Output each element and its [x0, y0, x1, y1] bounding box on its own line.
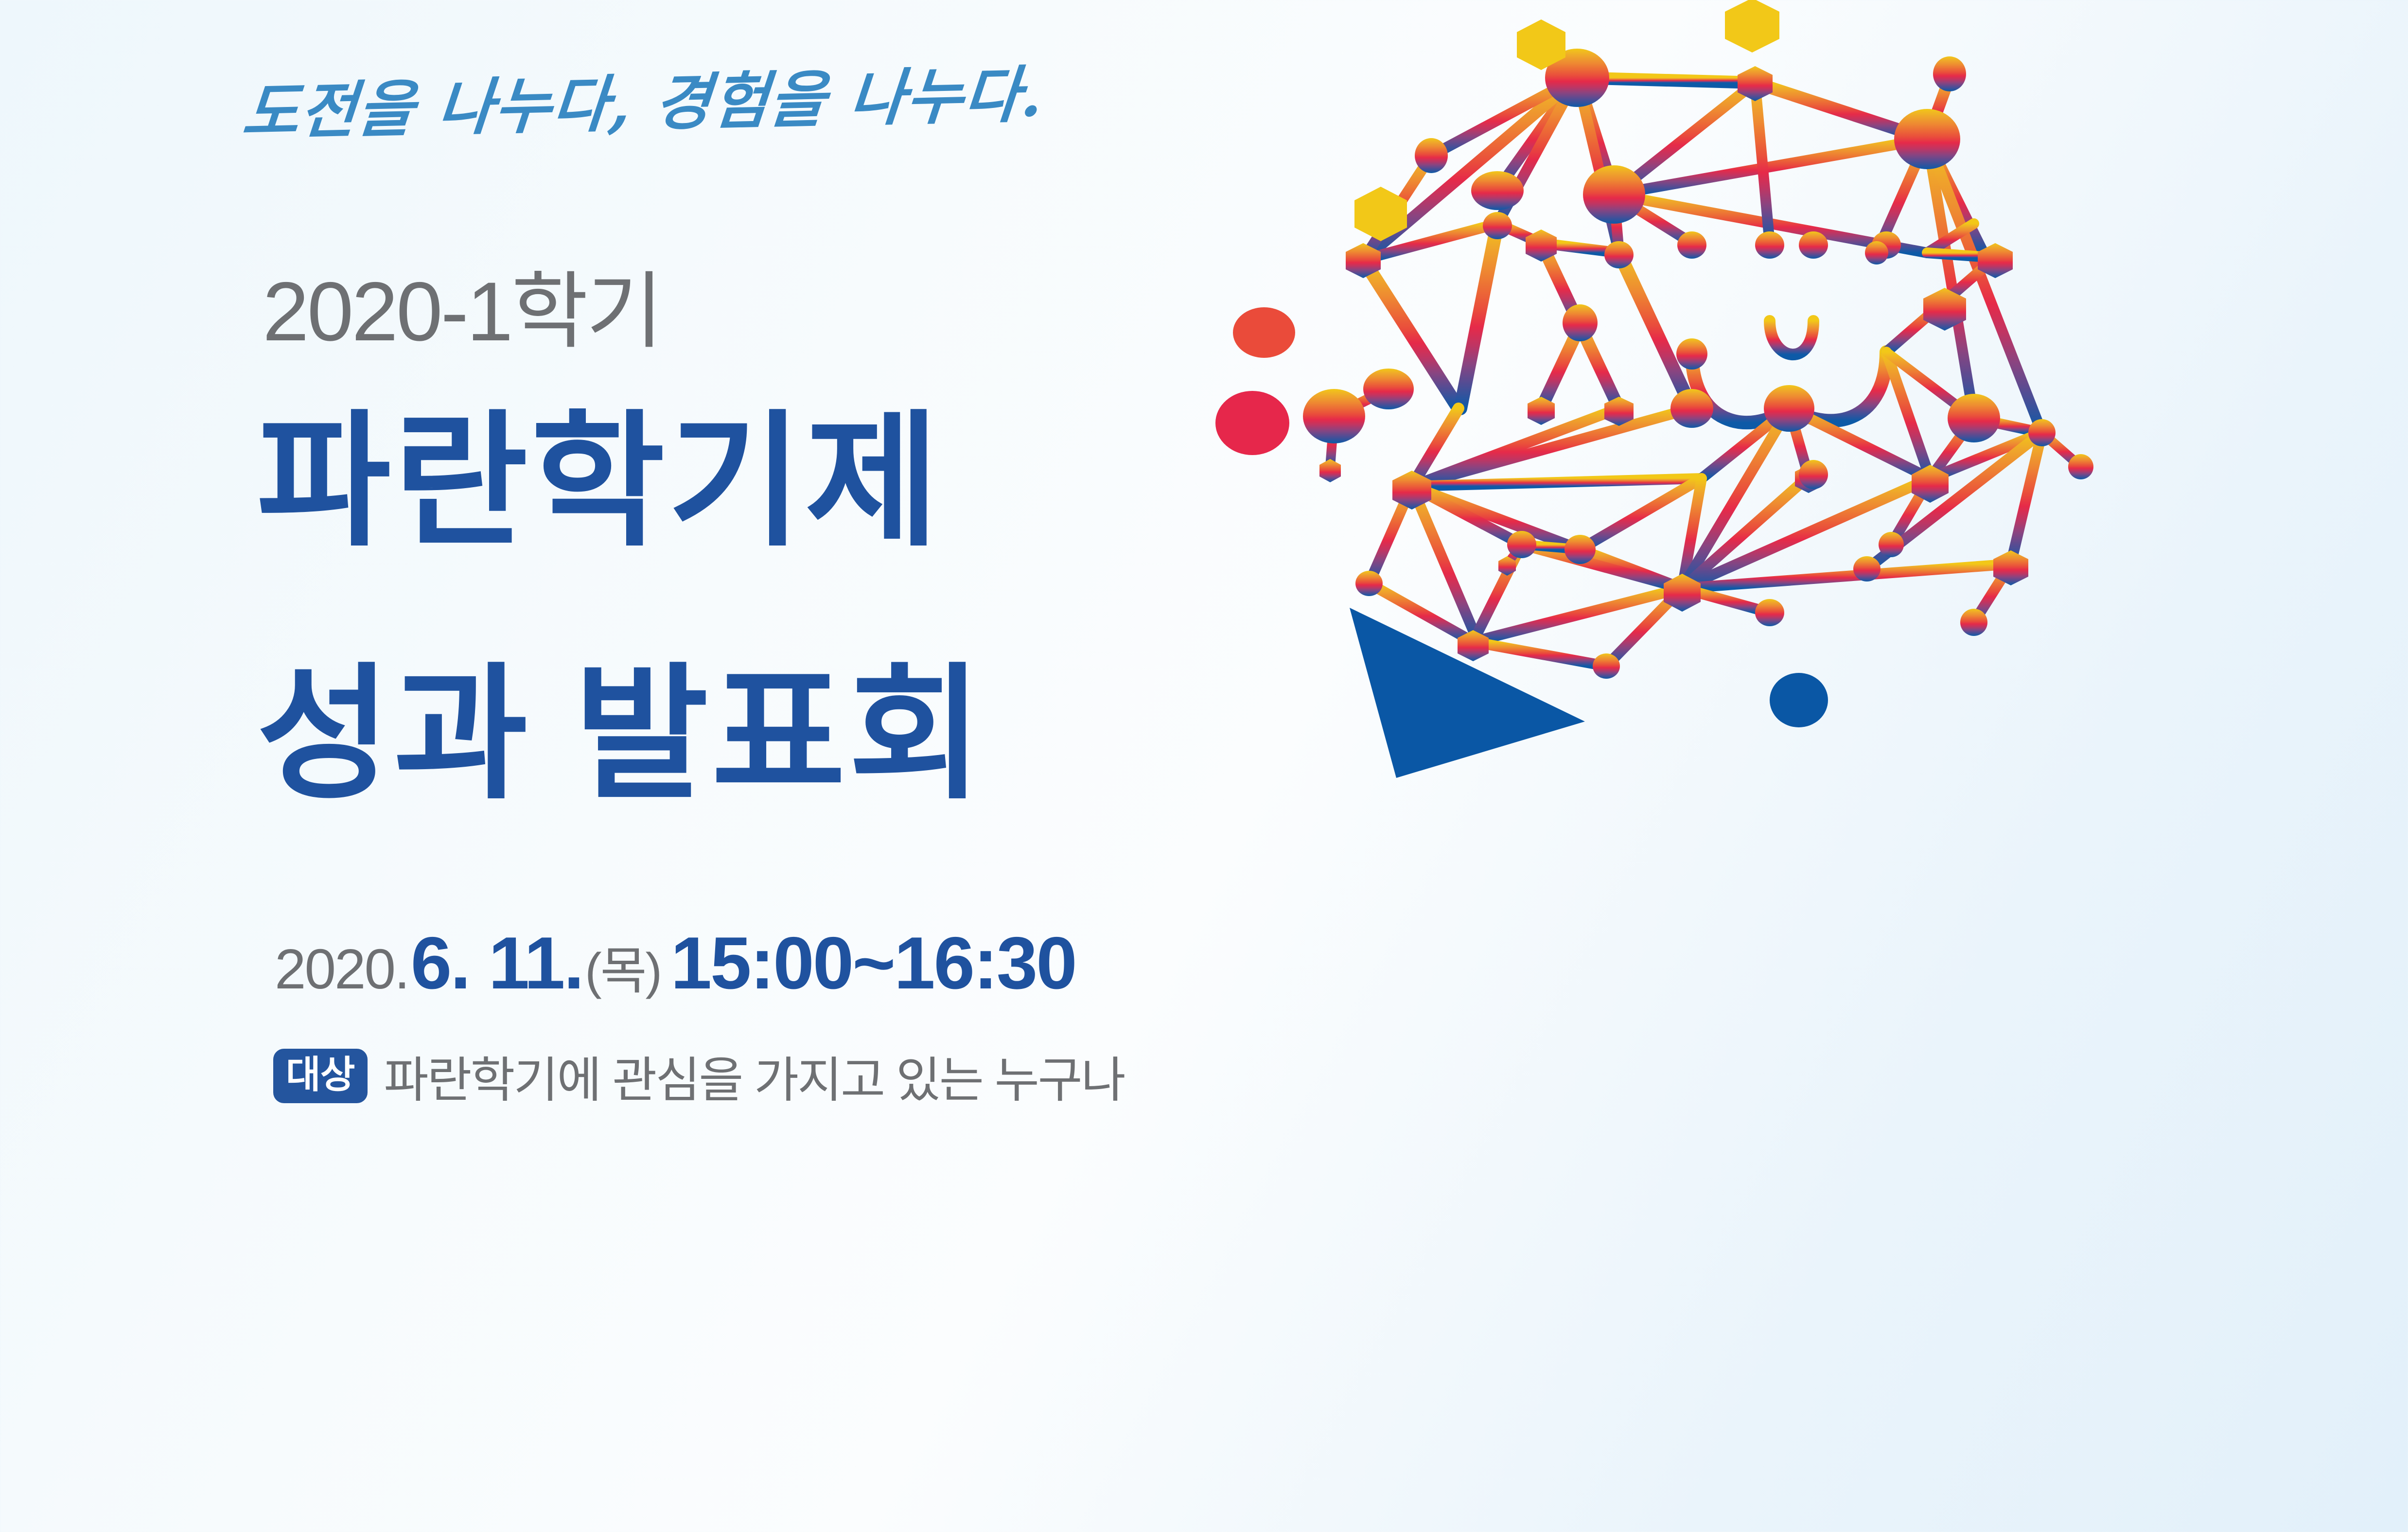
circle-node — [1593, 653, 1620, 679]
circle-node — [1507, 531, 1536, 558]
circle-node — [1564, 535, 1596, 564]
poster-datetime: 2020. 6. 11. (목) 15:00~16:30 — [275, 926, 1076, 1000]
poster-text-column: 도전을 나누다, 경험을 나누다. 2020-1학기 파란학기제 성과 발표회 … — [0, 0, 1264, 1532]
poster-title-line-2: 성과 발표회 — [257, 661, 985, 807]
circle-node — [1670, 389, 1713, 428]
circle-node — [2028, 419, 2056, 446]
circle-node — [1865, 241, 1888, 264]
au-network-graphic — [1206, 0, 2408, 1532]
circle-node — [1676, 338, 1707, 370]
circle-node — [1894, 109, 1960, 169]
decor-circle-red-icon — [1233, 307, 1295, 358]
hex-node — [1319, 459, 1341, 482]
datetime-year: 2020. — [275, 937, 408, 1001]
circle-node — [1755, 599, 1784, 626]
circle-node — [2068, 454, 2093, 479]
audience-description: 파란학기에 관심을 가지고 있는 누구나 — [384, 1040, 1125, 1111]
circle-node — [1583, 165, 1645, 224]
poster-audience-row: 대상 파란학기에 관심을 가지고 있는 누구나 — [273, 1040, 1125, 1111]
circle-node — [1355, 571, 1383, 596]
poster-semester-label: 2020-1학기 — [263, 243, 661, 365]
datetime-time-range: 15:00~16:30 — [671, 922, 1076, 1004]
circle-node — [1764, 385, 1814, 432]
circle-node — [1933, 56, 1966, 91]
circle-node — [1755, 231, 1784, 259]
circle-node — [1799, 231, 1828, 259]
circle-node — [1415, 138, 1448, 173]
circle-node — [1483, 212, 1512, 239]
circle-node — [1303, 389, 1365, 443]
circle-node — [1948, 394, 2000, 442]
circle-node — [1853, 556, 1881, 581]
circle-node — [1799, 460, 1828, 489]
decor-circle-red2-icon — [1215, 391, 1289, 455]
circle-node — [1363, 369, 1414, 409]
datetime-month-day: 6. 11. — [411, 922, 583, 1004]
datetime-day-of-week: (목) — [585, 943, 661, 1000]
circle-node — [1471, 171, 1524, 210]
poster-root: 도전을 나누다, 경험을 나누다. 2020-1학기 파란학기제 성과 발표회 … — [0, 0, 2408, 1532]
circle-node — [1677, 231, 1706, 259]
decor-circle-blue-icon — [1770, 673, 1828, 727]
audience-badge: 대상 — [273, 1049, 368, 1103]
poster-title-line-1: 파란학기제 — [257, 408, 942, 554]
decor-hexagon-icon — [1725, 0, 1779, 53]
circle-node — [1960, 609, 1987, 636]
circle-node — [1604, 241, 1634, 268]
circle-node — [1879, 532, 1904, 557]
poster-tagline: 도전을 나누다, 경험을 나누다. — [240, 45, 1048, 152]
circle-node — [1563, 304, 1598, 341]
